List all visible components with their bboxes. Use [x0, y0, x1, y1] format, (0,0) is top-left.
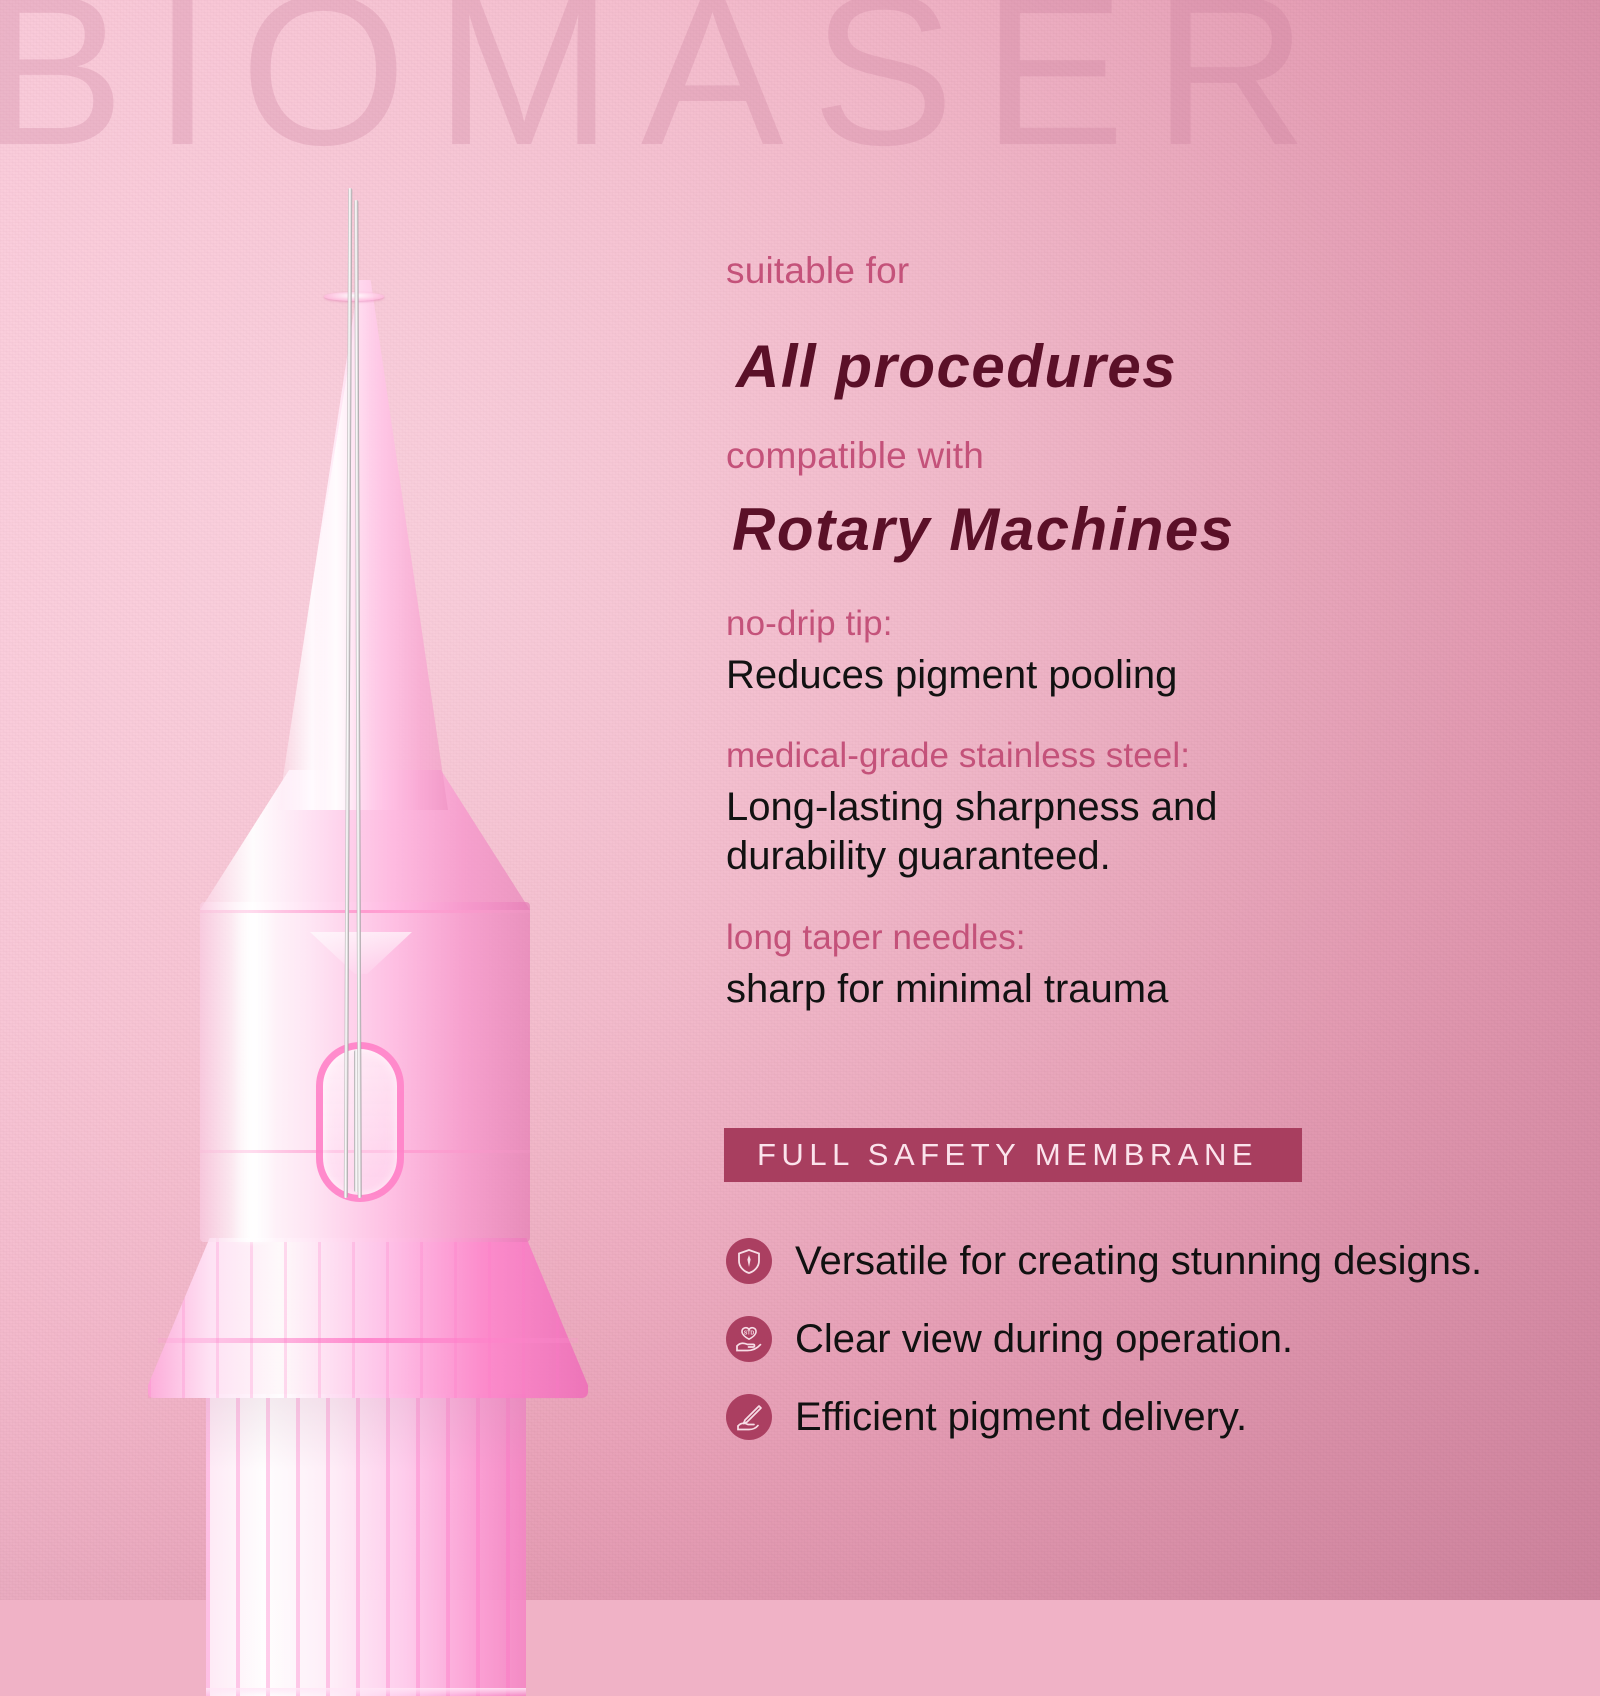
feature-no-drip-tip: no-drip tip: Reduces pigment pooling	[726, 604, 1177, 700]
list-item: Versatile for creating stunning designs.	[724, 1222, 1584, 1300]
feature-long-taper-needles: long taper needles: sharp for minimal tr…	[726, 918, 1168, 1014]
cartridge-flange-ribs	[148, 1238, 588, 1398]
badge-label: FULL SAFETY MEMBRANE	[724, 1137, 1258, 1173]
benefit-list: Versatile for creating stunning designs.…	[724, 1222, 1584, 1456]
feature-label: no-drip tip:	[726, 604, 1177, 644]
benefit-text: Versatile for creating stunning designs.	[795, 1239, 1482, 1284]
benefit-text: Clear view during operation.	[795, 1317, 1293, 1362]
feature-body: sharp for minimal trauma	[726, 965, 1168, 1014]
status-badge: FULL SAFETY MEMBRANE	[724, 1128, 1302, 1182]
feature-body: Reduces pigment pooling	[726, 651, 1177, 700]
kicker-compatible-with: compatible with	[726, 435, 984, 477]
benefit-text: Efficient pigment delivery.	[795, 1395, 1247, 1440]
cartridge-cone-highlight	[278, 300, 448, 810]
cartridge-flange-band	[158, 1338, 578, 1343]
list-item: STD Clear view during operation.	[724, 1300, 1584, 1378]
shield-needle-icon	[726, 1238, 772, 1284]
svg-text:STD: STD	[744, 1331, 755, 1337]
feature-stainless-steel: medical-grade stainless steel: Long-last…	[726, 736, 1217, 881]
photo-clip-edge	[206, 1688, 526, 1696]
hand-heart-sterile-icon: STD	[726, 1316, 772, 1362]
feature-label: long taper needles:	[726, 918, 1168, 958]
product-image	[128, 150, 628, 1548]
headline-all-procedures: All procedures	[736, 332, 1177, 401]
headline-rotary-machines: Rotary Machines	[732, 495, 1235, 564]
list-item: Efficient pigment delivery.	[724, 1378, 1584, 1456]
cartridge-stem-shadow	[206, 1394, 526, 1696]
cartridge-seam-upper	[200, 910, 530, 913]
marketing-copy-column: suitable for All procedures compatible w…	[718, 0, 1578, 1600]
pen-hand-icon	[726, 1394, 772, 1440]
cartridge-barrel-highlight	[232, 906, 276, 1242]
feature-body: Long-lasting sharpness and durability gu…	[726, 783, 1217, 881]
kicker-suitable-for: suitable for	[726, 250, 909, 292]
feature-label: medical-grade stainless steel:	[726, 736, 1217, 776]
